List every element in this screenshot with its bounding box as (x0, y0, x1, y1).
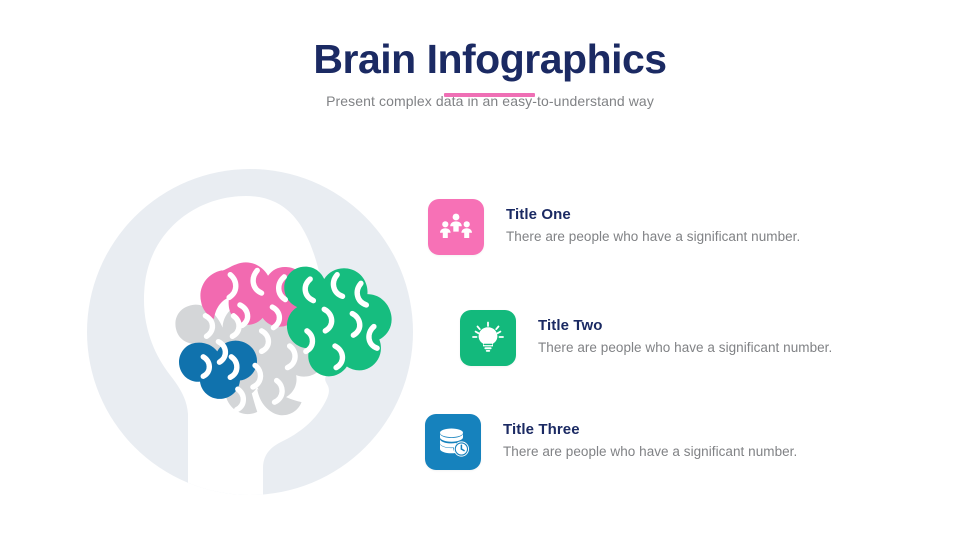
database-clock-icon[interactable] (425, 414, 481, 470)
slide-canvas: Brain Infographics Present complex data … (0, 0, 980, 551)
accent-divider (444, 93, 535, 97)
header: Brain Infographics Present complex data … (0, 38, 980, 109)
lightbulb-idea-icon[interactable] (460, 310, 516, 366)
list-item[interactable]: Title One There are people who have a si… (428, 199, 800, 255)
item-description: There are people who have a significant … (538, 340, 832, 355)
brain-head-illustration (78, 168, 423, 513)
item-description: There are people who have a significant … (503, 444, 797, 459)
list-item[interactable]: Title Two There are people who have a si… (460, 310, 832, 366)
item-text-block: Title Two There are people who have a si… (538, 310, 832, 355)
item-description: There are people who have a significant … (506, 229, 800, 244)
item-title: Title One (506, 206, 800, 223)
item-title: Title Three (503, 421, 797, 438)
list-item[interactable]: Title Three There are people who have a … (425, 414, 797, 470)
item-text-block: Title One There are people who have a si… (506, 199, 800, 244)
page-title: Brain Infographics (0, 38, 980, 81)
item-title: Title Two (538, 317, 832, 334)
people-group-icon[interactable] (428, 199, 484, 255)
item-text-block: Title Three There are people who have a … (503, 414, 797, 459)
